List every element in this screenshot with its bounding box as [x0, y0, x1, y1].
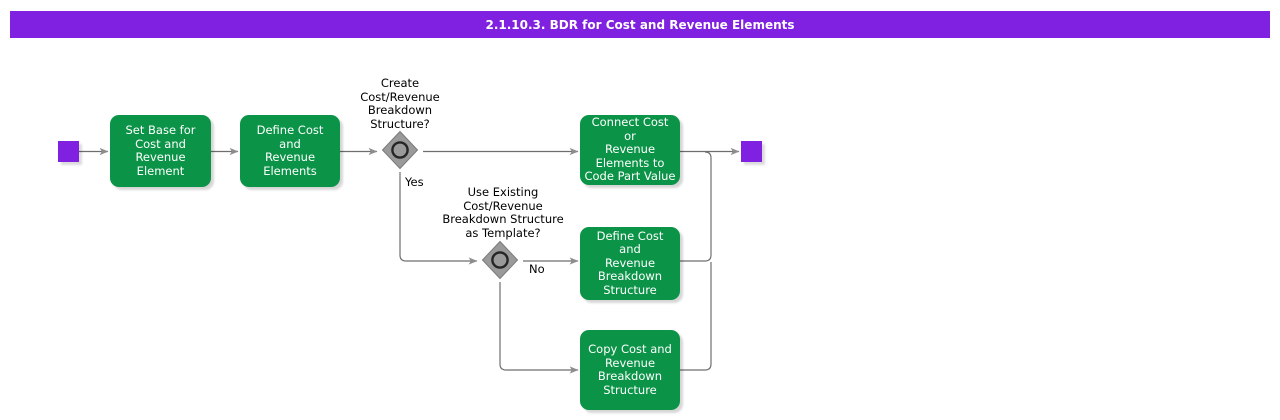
task-define-cost-and-revenue-elements[interactable]: Define Cost and Revenue Elements: [240, 115, 340, 187]
gateway-use-template[interactable]: [479, 239, 521, 281]
flowchart-canvas: 2.1.10.3. BDR for Cost and Revenue Eleme…: [0, 0, 1280, 420]
task-define-cost-and-revenue-breakdown-structure[interactable]: Define Cost and Revenue Breakdown Struct…: [580, 227, 680, 300]
gateway-create-breakdown[interactable]: [379, 129, 421, 171]
task-set-base-for-cost-and-revenue-element[interactable]: Set Base for Cost and Revenue Element: [110, 115, 211, 187]
task-label: Connect Cost or Revenue Elements to Code…: [580, 116, 680, 184]
task-connect-cost-or-revenue-elements-to-code-part-value[interactable]: Connect Cost or Revenue Elements to Code…: [580, 115, 680, 185]
task-label: Copy Cost and Revenue Breakdown Structur…: [584, 343, 676, 397]
edge-gateway2-to-copy-breakdown: [500, 282, 578, 370]
gateway-create-breakdown-caption: Create Cost/Revenue Breakdown Structure?: [340, 77, 460, 131]
edge-label-no: No: [529, 263, 545, 277]
end-event[interactable]: [741, 141, 762, 162]
diagram-title-bar: 2.1.10.3. BDR for Cost and Revenue Eleme…: [10, 11, 1270, 38]
edge-label-yes: Yes: [405, 176, 424, 190]
start-event[interactable]: [58, 141, 79, 162]
task-label: Set Base for Cost and Revenue Element: [121, 124, 199, 178]
edge-define-breakdown-to-merge: [680, 152, 711, 261]
gateway-use-template-caption: Use Existing Cost/Revenue Breakdown Stru…: [433, 186, 573, 240]
task-label: Define Cost and Revenue Elements: [240, 124, 340, 178]
edge-copy-breakdown-to-merge: [680, 262, 711, 370]
gateway-diamond-icon: [479, 239, 521, 281]
gateway-diamond-icon: [379, 129, 421, 171]
task-label: Define Cost and Revenue Breakdown Struct…: [580, 230, 680, 298]
page-title: 2.1.10.3. BDR for Cost and Revenue Eleme…: [485, 18, 794, 32]
task-copy-cost-and-revenue-breakdown-structure[interactable]: Copy Cost and Revenue Breakdown Structur…: [580, 330, 680, 410]
